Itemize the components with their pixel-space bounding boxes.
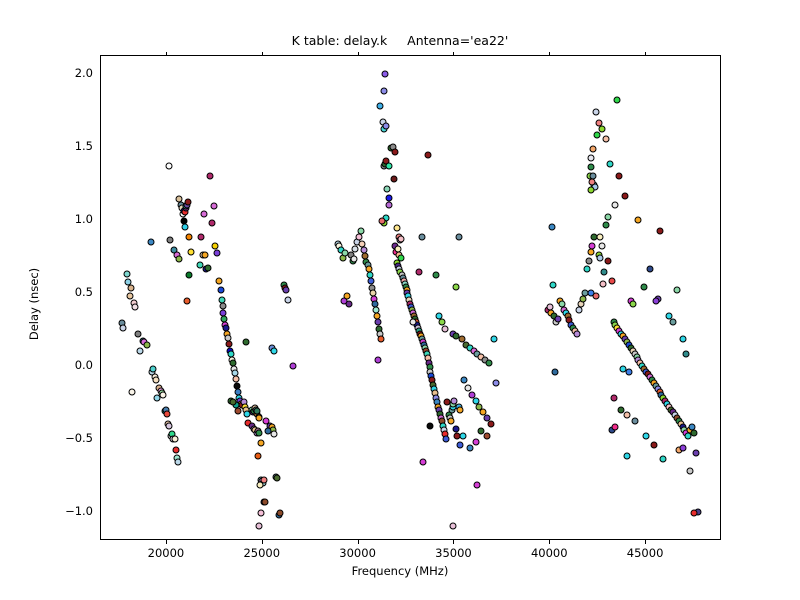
data-point bbox=[604, 213, 611, 220]
data-point bbox=[351, 245, 358, 252]
data-point bbox=[184, 298, 191, 305]
data-point bbox=[274, 475, 281, 482]
data-point bbox=[350, 256, 357, 263]
data-point bbox=[679, 444, 686, 451]
data-point bbox=[255, 429, 262, 436]
data-point bbox=[165, 162, 172, 169]
data-point bbox=[215, 277, 222, 284]
data-point bbox=[424, 152, 431, 159]
data-point bbox=[185, 272, 192, 279]
y-tick-label: −1.0 bbox=[65, 504, 93, 518]
data-point bbox=[257, 482, 264, 489]
data-point bbox=[460, 432, 467, 439]
data-point bbox=[487, 421, 494, 428]
data-point bbox=[599, 280, 606, 287]
data-point bbox=[492, 380, 499, 387]
data-point bbox=[683, 351, 690, 358]
data-point bbox=[254, 453, 261, 460]
data-point bbox=[163, 410, 170, 417]
data-point bbox=[262, 418, 269, 425]
data-point bbox=[385, 194, 392, 201]
data-point bbox=[608, 277, 615, 284]
data-point bbox=[257, 440, 264, 447]
data-point bbox=[211, 242, 218, 249]
data-point bbox=[692, 450, 699, 457]
data-point bbox=[172, 447, 179, 454]
x-tick-mark bbox=[645, 540, 646, 544]
data-point bbox=[219, 302, 226, 309]
data-point bbox=[357, 228, 364, 235]
data-point bbox=[622, 193, 629, 200]
data-point bbox=[184, 199, 191, 206]
data-point bbox=[175, 256, 182, 263]
data-point bbox=[198, 234, 205, 241]
x-tick-mark bbox=[549, 540, 550, 544]
data-point bbox=[669, 318, 676, 325]
x-axis-label: Frequency (MHz) bbox=[0, 564, 800, 578]
data-point bbox=[646, 266, 653, 273]
data-point bbox=[656, 228, 663, 235]
data-point bbox=[484, 432, 491, 439]
data-point bbox=[166, 237, 173, 244]
data-point bbox=[234, 407, 241, 414]
data-point bbox=[382, 70, 389, 77]
data-point bbox=[552, 368, 559, 375]
data-point bbox=[368, 277, 375, 284]
data-point bbox=[618, 406, 625, 413]
data-point bbox=[378, 218, 385, 225]
data-point bbox=[602, 136, 609, 143]
data-point bbox=[616, 172, 623, 179]
y-tick-label: 0.5 bbox=[75, 285, 93, 299]
x-tick-label: 35000 bbox=[435, 546, 472, 560]
data-point bbox=[597, 254, 604, 261]
data-point bbox=[593, 292, 600, 299]
data-point bbox=[165, 422, 172, 429]
data-point bbox=[550, 282, 557, 289]
data-point bbox=[585, 257, 592, 264]
data-point bbox=[464, 384, 471, 391]
data-point bbox=[386, 162, 393, 169]
x-tick-label: 20000 bbox=[148, 546, 185, 560]
data-point bbox=[344, 292, 351, 299]
data-point bbox=[679, 336, 686, 343]
data-point bbox=[123, 270, 130, 277]
data-point bbox=[135, 330, 142, 337]
y-tick-label: 1.0 bbox=[75, 212, 93, 226]
data-point bbox=[442, 435, 449, 442]
data-point bbox=[150, 365, 157, 372]
data-point bbox=[554, 315, 561, 322]
matplotlib-figure: K table: delay.k Antenna='ea22' Delay (n… bbox=[0, 0, 800, 600]
y-tick-label: 1.5 bbox=[75, 139, 93, 153]
data-point bbox=[132, 304, 139, 311]
data-point bbox=[453, 283, 460, 290]
data-point bbox=[201, 210, 208, 217]
data-point bbox=[474, 482, 481, 489]
data-point bbox=[392, 149, 399, 156]
data-point bbox=[650, 441, 657, 448]
data-point bbox=[174, 459, 181, 466]
data-point bbox=[213, 250, 220, 257]
data-point bbox=[588, 164, 595, 171]
data-point bbox=[147, 238, 154, 245]
data-point bbox=[599, 242, 606, 249]
x-tick-mark bbox=[262, 540, 263, 544]
data-point bbox=[374, 318, 381, 325]
data-point bbox=[614, 96, 621, 103]
data-point bbox=[226, 340, 233, 347]
data-point bbox=[593, 108, 600, 115]
data-point bbox=[433, 272, 440, 279]
y-axis-label: Delay (nsec) bbox=[27, 174, 41, 434]
data-point bbox=[660, 456, 667, 463]
data-point bbox=[126, 292, 133, 299]
data-point bbox=[652, 298, 659, 305]
data-point bbox=[623, 412, 630, 419]
data-point bbox=[641, 283, 648, 290]
data-point bbox=[485, 359, 492, 366]
data-point bbox=[549, 223, 556, 230]
data-point bbox=[137, 348, 144, 355]
data-point bbox=[262, 498, 269, 505]
data-point bbox=[202, 251, 209, 258]
data-point bbox=[602, 222, 609, 229]
data-point bbox=[447, 418, 454, 425]
data-point bbox=[346, 301, 353, 308]
data-point bbox=[185, 234, 192, 241]
scatter-series bbox=[101, 56, 720, 539]
data-point bbox=[119, 324, 126, 331]
data-point bbox=[181, 223, 188, 230]
data-point bbox=[691, 510, 698, 517]
data-point bbox=[590, 146, 597, 153]
data-point bbox=[232, 375, 239, 382]
data-point bbox=[629, 301, 636, 308]
data-point bbox=[623, 453, 630, 460]
y-tick-label: −0.5 bbox=[65, 431, 93, 445]
x-tick-label: 45000 bbox=[627, 546, 664, 560]
x-tick-label: 30000 bbox=[339, 546, 376, 560]
data-point bbox=[449, 523, 456, 530]
data-point bbox=[461, 377, 468, 384]
y-tick-label: 2.0 bbox=[75, 66, 93, 80]
x-tick-mark bbox=[453, 540, 454, 544]
data-point bbox=[643, 432, 650, 439]
page-title: K table: delay.k Antenna='ea22' bbox=[0, 33, 800, 48]
data-point bbox=[594, 131, 601, 138]
data-point bbox=[612, 202, 619, 209]
data-point bbox=[457, 441, 464, 448]
data-point bbox=[258, 510, 265, 517]
data-point bbox=[441, 326, 448, 333]
data-point bbox=[380, 88, 387, 95]
data-point bbox=[377, 336, 384, 343]
data-point bbox=[210, 203, 217, 210]
data-point bbox=[271, 431, 278, 438]
data-point bbox=[376, 102, 383, 109]
data-point bbox=[204, 264, 211, 271]
data-point bbox=[418, 234, 425, 241]
data-point bbox=[453, 425, 460, 432]
data-point bbox=[583, 266, 590, 273]
data-point bbox=[427, 422, 434, 429]
data-point bbox=[456, 234, 463, 241]
data-point bbox=[386, 202, 393, 209]
data-point bbox=[171, 435, 178, 442]
data-point bbox=[207, 172, 214, 179]
data-point bbox=[589, 242, 596, 249]
data-point bbox=[374, 356, 381, 363]
plot-area bbox=[100, 55, 721, 540]
data-point bbox=[457, 406, 464, 413]
data-point bbox=[631, 418, 638, 425]
data-point bbox=[283, 286, 290, 293]
data-point bbox=[143, 342, 150, 349]
data-point bbox=[588, 187, 595, 194]
data-point bbox=[438, 318, 445, 325]
data-point bbox=[383, 123, 390, 130]
data-point bbox=[415, 269, 422, 276]
data-point bbox=[610, 394, 617, 401]
data-point bbox=[290, 362, 297, 369]
x-tick-mark bbox=[358, 540, 359, 544]
data-point bbox=[600, 269, 607, 276]
data-point bbox=[410, 318, 417, 325]
data-point bbox=[271, 348, 278, 355]
data-point bbox=[242, 339, 249, 346]
data-point bbox=[604, 257, 611, 264]
data-point bbox=[230, 399, 237, 406]
data-point bbox=[612, 424, 619, 431]
y-tick-label: 0.0 bbox=[75, 358, 93, 372]
data-point bbox=[574, 330, 581, 337]
data-point bbox=[208, 219, 215, 226]
data-point bbox=[127, 285, 134, 292]
x-tick-label: 40000 bbox=[531, 546, 568, 560]
data-point bbox=[217, 286, 224, 293]
data-point bbox=[687, 467, 694, 474]
data-point bbox=[606, 161, 613, 168]
data-point bbox=[635, 216, 642, 223]
data-point bbox=[466, 444, 473, 451]
data-point bbox=[673, 286, 680, 293]
x-tick-label: 25000 bbox=[243, 546, 280, 560]
data-point bbox=[284, 296, 291, 303]
data-point bbox=[153, 377, 160, 384]
data-point bbox=[625, 368, 632, 375]
data-point bbox=[589, 178, 596, 185]
data-point bbox=[160, 391, 167, 398]
data-point bbox=[587, 155, 594, 162]
data-point bbox=[277, 510, 284, 517]
data-point bbox=[391, 175, 398, 182]
data-point bbox=[393, 225, 400, 232]
data-point bbox=[255, 523, 262, 530]
data-point bbox=[419, 459, 426, 466]
data-point bbox=[472, 438, 479, 445]
data-point bbox=[599, 126, 606, 133]
data-point bbox=[691, 429, 698, 436]
data-point bbox=[490, 336, 497, 343]
data-point bbox=[129, 388, 136, 395]
data-point bbox=[384, 185, 391, 192]
data-point bbox=[597, 234, 604, 241]
data-point bbox=[187, 248, 194, 255]
data-point bbox=[397, 235, 404, 242]
x-tick-mark bbox=[166, 540, 167, 544]
